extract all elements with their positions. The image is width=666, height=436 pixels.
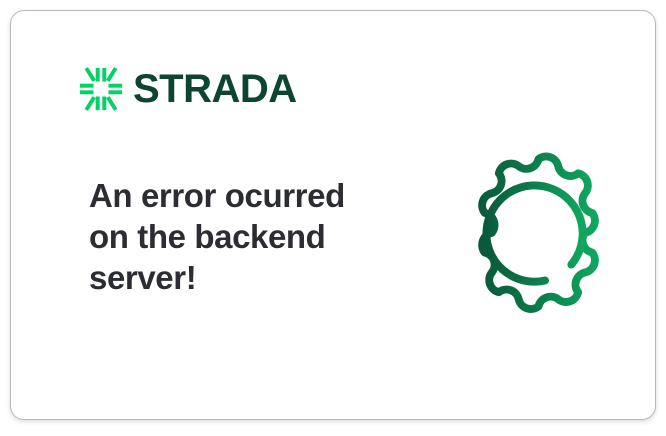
gear-illustration <box>451 146 626 321</box>
error-message: An error ocurred on the backend server! <box>89 175 389 298</box>
gear-cog-icon <box>451 146 626 321</box>
brand-wordmark: STRADA <box>133 69 297 109</box>
brand-lockup: STRADA <box>79 67 297 111</box>
strada-asterisk-icon <box>79 67 123 111</box>
error-page: STRADA An error ocurred on the backend s… <box>0 0 666 436</box>
error-card: STRADA An error ocurred on the backend s… <box>10 10 656 420</box>
